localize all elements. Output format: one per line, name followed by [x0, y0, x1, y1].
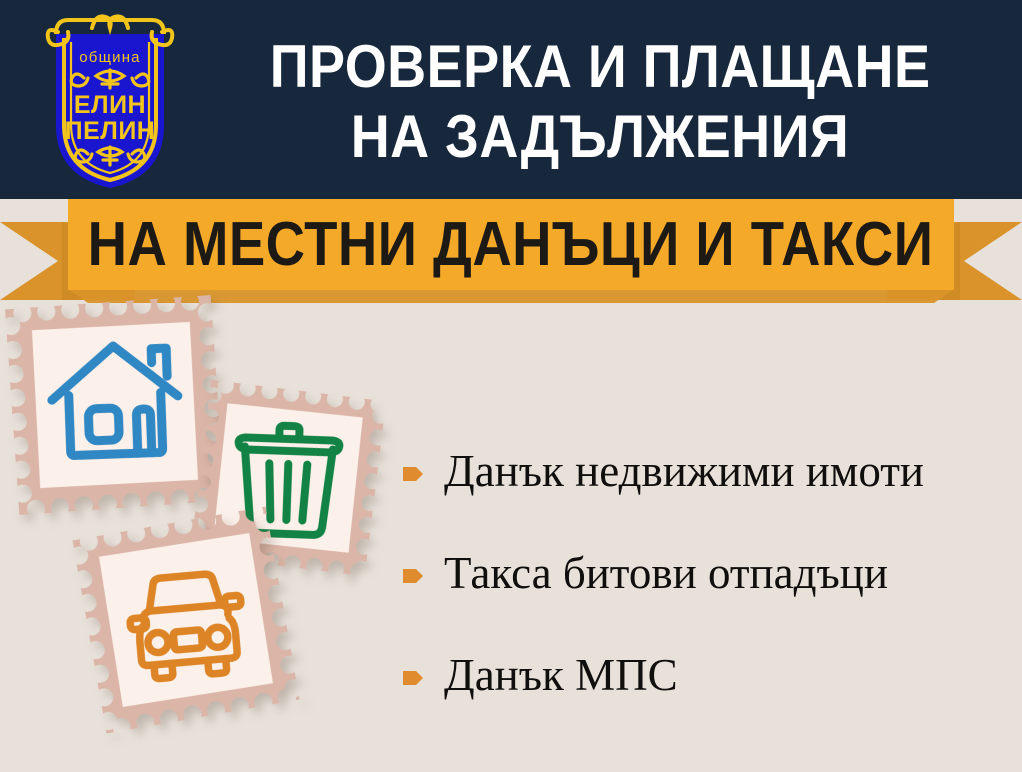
subtitle-ribbon: НА МЕСТНИ ДАНЪЦИ И ТАКСИ: [0, 199, 1022, 304]
ribbon-label: НА МЕСТНИ ДАНЪЦИ И ТАКСИ: [88, 214, 934, 276]
list-item[interactable]: Такса битови отпадъци: [400, 522, 1012, 624]
title-line-2: НА ЗАДЪЛЖЕНИЯ: [351, 103, 849, 171]
stamp-collage: [0, 300, 400, 772]
municipality-crest-logo: община ЕЛИН ПЕЛИН: [40, 8, 180, 193]
poster-canvas: община ЕЛИН ПЕЛИН: [0, 0, 1022, 772]
svg-text:община: община: [79, 49, 140, 66]
pentagon-arrow-bullet-icon: [400, 563, 426, 589]
ribbon-band: НА МЕСТНИ ДАНЪЦИ И ТАКСИ: [68, 199, 954, 290]
list-item[interactable]: Данък МПС: [400, 624, 1012, 726]
list-item-label: Данък МПС: [444, 650, 678, 700]
list-item-label: Данък недвижими имоти: [444, 446, 924, 496]
list-item-label: Такса битови отпадъци: [444, 548, 888, 598]
poster-title: ПРОВЕРКА И ПЛАЩАНЕ НА ЗАДЪЛЖЕНИЯ: [190, 16, 1010, 188]
pentagon-arrow-bullet-icon: [400, 665, 426, 691]
stamp-house: [5, 295, 225, 515]
service-list: Данък недвижими имоти Такса битови отпад…: [400, 420, 1012, 726]
crest-shield-icon: община ЕЛИН ПЕЛИН: [40, 8, 180, 193]
svg-text:ЕЛИН: ЕЛИН: [74, 91, 146, 119]
header-banner: община ЕЛИН ПЕЛИН: [0, 0, 1022, 199]
stamp-vehicle: [72, 506, 299, 733]
list-item[interactable]: Данък недвижими имоти: [400, 420, 1012, 522]
pentagon-arrow-bullet-icon: [400, 461, 426, 487]
svg-text:ПЕЛИН: ПЕЛИН: [65, 117, 156, 145]
title-line-1: ПРОВЕРКА И ПЛАЩАНЕ: [270, 33, 931, 101]
